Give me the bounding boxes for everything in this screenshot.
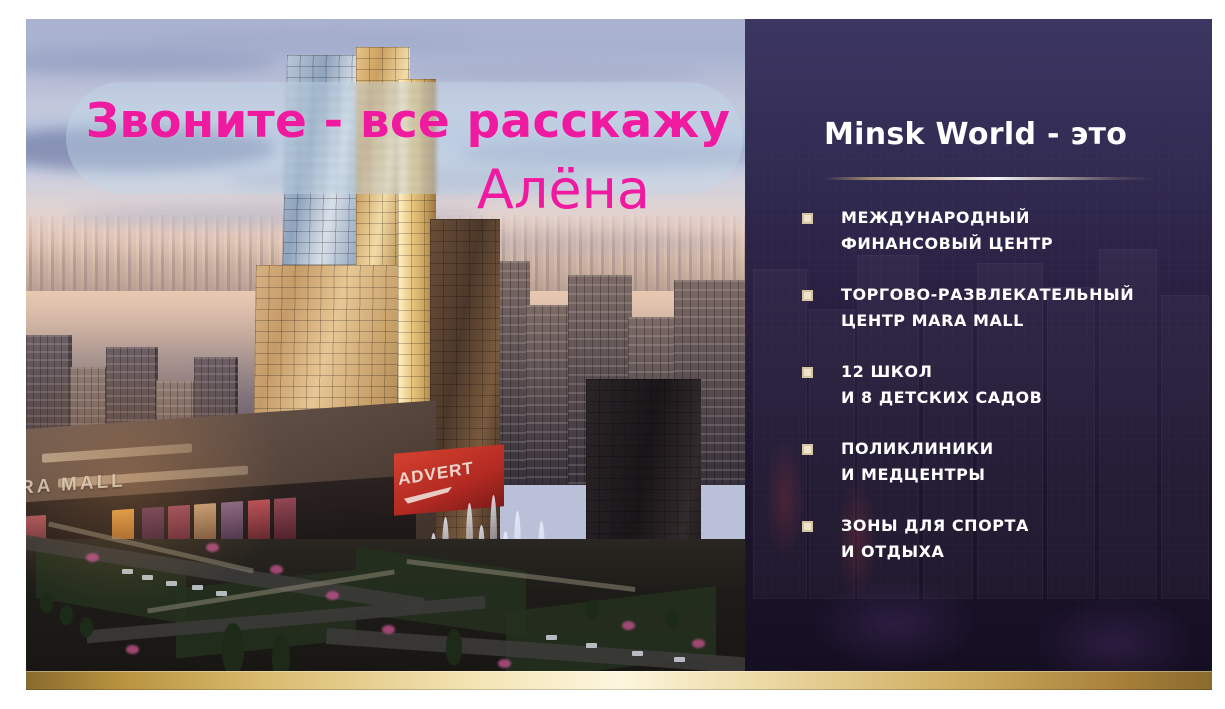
car: [216, 591, 227, 596]
tree: [40, 593, 53, 613]
panel-title: Minsk World - это: [824, 117, 1127, 152]
car: [632, 651, 643, 656]
car: [674, 657, 685, 662]
building: [526, 305, 572, 485]
list-item: ЗОНЫ ДЛЯ СПОРТА И ОТДЫХА: [802, 513, 1202, 565]
list-item-line2: И МЕДЦЕНТРЫ: [841, 462, 1202, 488]
flower-bed: [622, 621, 635, 630]
cityscape-photo: RA MALL ADVERT: [26, 19, 745, 690]
tree: [586, 599, 599, 619]
flower-bed: [692, 639, 705, 648]
tree: [666, 609, 679, 629]
square-bullet-icon: [802, 213, 813, 224]
square-bullet-icon: [802, 367, 813, 378]
list-item-line2: И ОТДЫХА: [841, 539, 1202, 565]
list-item-line2: ЦЕНТР MARA MALL: [841, 308, 1202, 334]
flower-bed: [126, 645, 139, 654]
list-item: МЕЖДУНАРОДНЫЙ ФИНАНСОВЫЙ ЦЕНТР: [802, 205, 1202, 257]
car: [546, 635, 557, 640]
park-grounds: [26, 539, 745, 690]
roof-detail: [42, 443, 192, 462]
list-item-line2: ФИНАНСОВЫЙ ЦЕНТР: [841, 231, 1202, 257]
flower-bed: [86, 553, 99, 562]
slide-root: RA MALL ADVERT: [0, 0, 1225, 709]
tree: [80, 617, 93, 637]
list-item: ПОЛИКЛИНИКИ И МЕДЦЕНТРЫ: [802, 436, 1202, 488]
list-item: ТОРГОВО-РАЗВЛЕКАТЕЛЬНЫЙ ЦЕНТР MARA MALL: [802, 282, 1202, 334]
overlay-headline-line2: Алёна: [68, 163, 745, 217]
cloud: [406, 63, 706, 83]
flower-bed: [270, 565, 283, 574]
car: [122, 569, 133, 574]
square-bullet-icon: [802, 444, 813, 455]
car: [586, 643, 597, 648]
tree: [60, 605, 73, 625]
square-bullet-icon: [802, 521, 813, 532]
list-item-line1: ПОЛИКЛИНИКИ: [841, 436, 1202, 462]
list-item-line1: 12 ШКОЛ: [841, 359, 1202, 385]
flower-bed: [206, 543, 219, 552]
list-item: 12 ШКОЛ И 8 ДЕТСКИХ САДОВ: [802, 359, 1202, 411]
flower-bed: [326, 591, 339, 600]
slide-card: RA MALL ADVERT: [26, 19, 1212, 690]
overlay-headline-line1: Звоните - все расскажу: [68, 98, 745, 145]
list-item-line1: МЕЖДУНАРОДНЫЙ: [841, 205, 1202, 231]
car: [142, 575, 153, 580]
car: [166, 581, 177, 586]
flower-bed: [382, 625, 395, 634]
tree: [222, 623, 244, 675]
features-panel: Minsk World - это МЕЖДУНАРОДНЫЙ ФИНАНСОВ…: [745, 19, 1212, 690]
flower-bed: [498, 659, 511, 668]
car: [192, 585, 203, 590]
title-divider: [824, 177, 1154, 180]
square-bullet-icon: [802, 290, 813, 301]
list-item-line2: И 8 ДЕТСКИХ САДОВ: [841, 385, 1202, 411]
cloud: [146, 31, 476, 49]
tree: [446, 629, 462, 665]
list-item-line1: ЗОНЫ ДЛЯ СПОРТА: [841, 513, 1202, 539]
list-item-line1: ТОРГОВО-РАЗВЛЕКАТЕЛЬНЫЙ: [841, 282, 1202, 308]
feature-list: МЕЖДУНАРОДНЫЙ ФИНАНСОВЫЙ ЦЕНТР ТОРГОВО-Р…: [802, 205, 1202, 590]
